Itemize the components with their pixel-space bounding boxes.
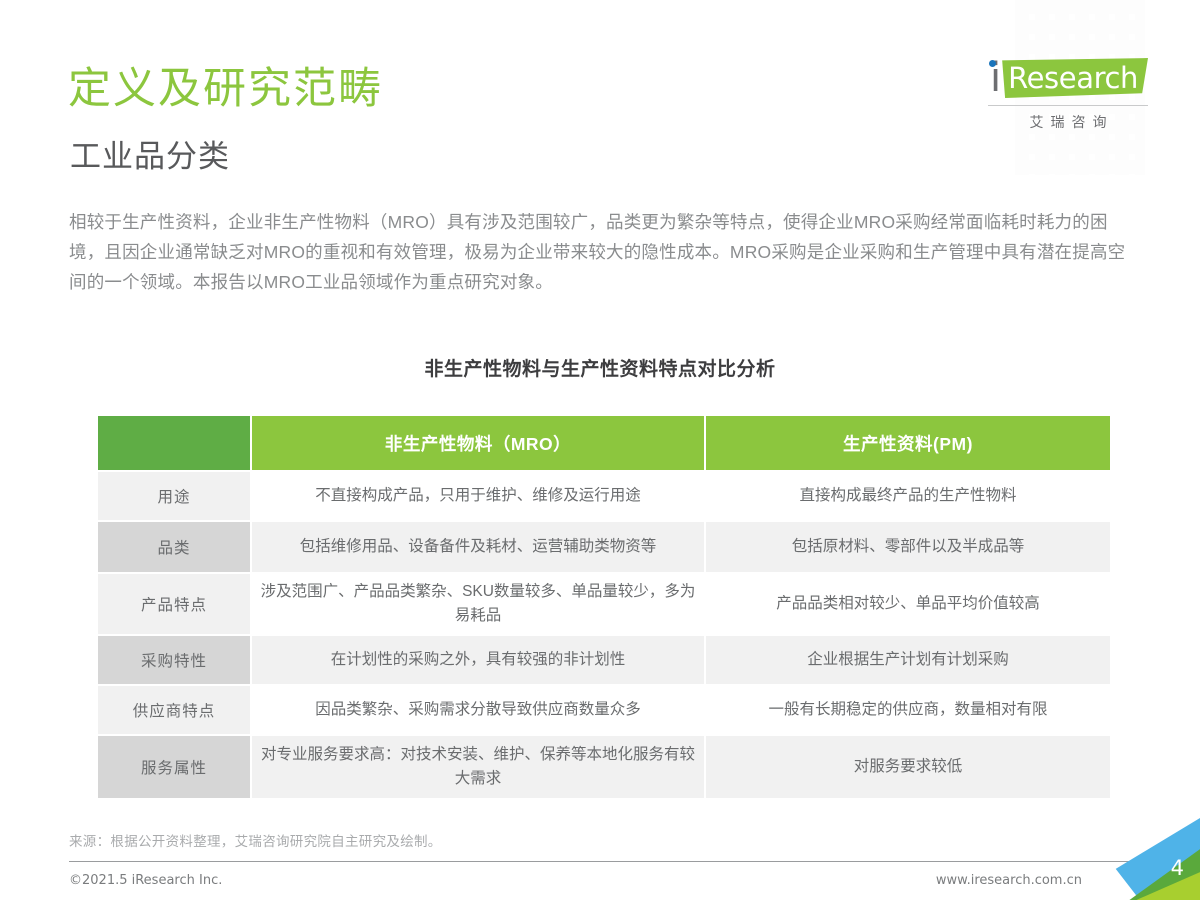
table-row: 采购特性 在计划性的采购之外，具有较强的非计划性 企业根据生产计划有计划采购 — [98, 636, 1110, 684]
corner-decoration — [1114, 818, 1200, 900]
row-cell-mro: 因品类繁杂、采购需求分散导致供应商数量众多 — [252, 686, 704, 734]
logo-word-research: Research — [1008, 64, 1138, 93]
row-label: 采购特性 — [98, 636, 250, 684]
row-cell-mro: 对专业服务要求高：对技术安装、维护、保养等本地化服务有较大需求 — [252, 736, 704, 798]
table-row: 用途 不直接构成产品，只用于维护、维修及运行用途 直接构成最终产品的生产性物料 — [98, 472, 1110, 520]
table-header-row: 非生产性物料（MRO） 生产性资料(PM) — [98, 416, 1110, 470]
row-cell-pm: 企业根据生产计划有计划采购 — [706, 636, 1110, 684]
page-title: 定义及研究范畴 — [68, 62, 383, 116]
logo-chinese-name: 艾瑞咨询 — [988, 105, 1148, 132]
table-row: 供应商特点 因品类繁杂、采购需求分散导致供应商数量众多 一般有长期稳定的供应商，… — [98, 686, 1110, 734]
table-header-mro: 非生产性物料（MRO） — [252, 416, 704, 470]
iresearch-logo: i Research 艾瑞咨询 — [988, 52, 1148, 132]
row-label: 用途 — [98, 472, 250, 520]
table-header-blank — [98, 416, 250, 470]
table-row: 产品特点 涉及范围广、产品品类繁杂、SKU数量较多、单品量较少，多为易耗品 产品… — [98, 574, 1110, 634]
page-subtitle: 工业品分类 — [70, 137, 230, 177]
row-cell-mro: 涉及范围广、产品品类繁杂、SKU数量较多、单品量较少，多为易耗品 — [252, 574, 704, 634]
slide-page: i Research 艾瑞咨询 定义及研究范畴 工业品分类 相较于生产性资料，企… — [0, 0, 1200, 900]
row-cell-pm: 包括原材料、零部件以及半成品等 — [706, 522, 1110, 572]
row-cell-mro: 包括维修用品、设备备件及耗材、运营辅助类物资等 — [252, 522, 704, 572]
footer-copyright: ©2021.5 iResearch Inc. — [69, 873, 222, 888]
row-cell-pm: 产品品类相对较少、单品平均价值较高 — [706, 574, 1110, 634]
row-label: 服务属性 — [98, 736, 250, 798]
row-cell-pm: 对服务要求较低 — [706, 736, 1110, 798]
row-cell-pm: 一般有长期稳定的供应商，数量相对有限 — [706, 686, 1110, 734]
source-note: 来源：根据公开资料整理，艾瑞咨询研究院自主研究及绘制。 — [69, 830, 442, 850]
row-cell-pm: 直接构成最终产品的生产性物料 — [706, 472, 1110, 520]
logo-green-shape: Research — [1002, 58, 1148, 98]
comparison-table: 非生产性物料（MRO） 生产性资料(PM) 用途 不直接构成产品，只用于维护、维… — [96, 414, 1112, 800]
footer-divider — [69, 861, 1141, 862]
table-title: 非生产性物料与生产性资料特点对比分析 — [0, 354, 1200, 381]
logo-dot-icon — [989, 60, 996, 67]
row-cell-mro: 在计划性的采购之外，具有较强的非计划性 — [252, 636, 704, 684]
row-label: 产品特点 — [98, 574, 250, 634]
row-label: 品类 — [98, 522, 250, 572]
footer-website: www.iresearch.com.cn — [936, 873, 1082, 888]
table-header-pm: 生产性资料(PM) — [706, 416, 1110, 470]
row-cell-mro: 不直接构成产品，只用于维护、维修及运行用途 — [252, 472, 704, 520]
row-label: 供应商特点 — [98, 686, 250, 734]
page-number: 4 — [1171, 856, 1184, 880]
table-row: 服务属性 对专业服务要求高：对技术安装、维护、保养等本地化服务有较大需求 对服务… — [98, 736, 1110, 798]
body-paragraph: 相较于生产性资料，企业非生产性物料（MRO）具有涉及范围较广，品类更为繁杂等特点… — [69, 207, 1141, 297]
logo-wordmark: i Research — [988, 52, 1148, 98]
table-row: 品类 包括维修用品、设备备件及耗材、运营辅助类物资等 包括原材料、零部件以及半成… — [98, 522, 1110, 572]
